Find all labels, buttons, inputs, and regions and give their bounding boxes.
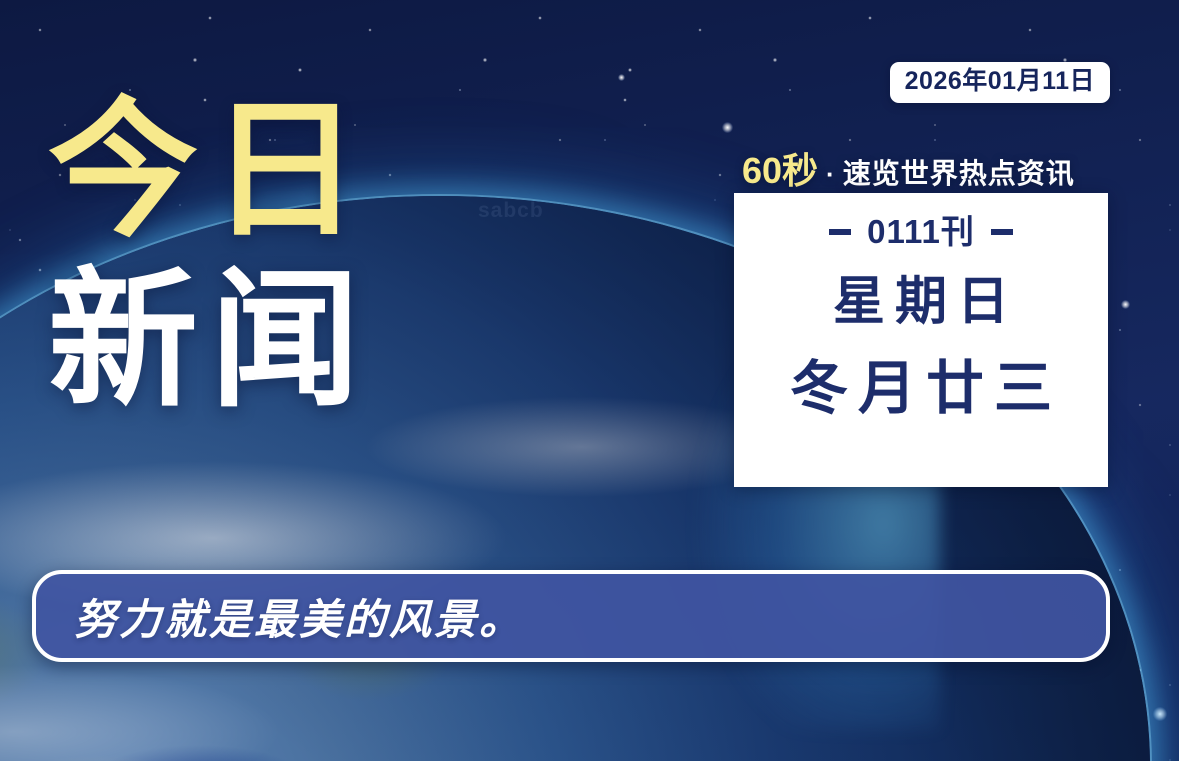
tagline-seconds: 60秒	[742, 142, 818, 194]
tagline-text: 速览世界热点资讯	[843, 152, 1075, 192]
lunar-date-label: 冬月廿三	[780, 360, 1062, 418]
dash-right-icon	[991, 229, 1013, 235]
date-badge: 2026年01月11日	[890, 62, 1110, 103]
issue-row: 0111刊	[829, 215, 1013, 248]
tagline-separator: ·	[824, 159, 837, 190]
info-card: 0111刊 星期日 冬月廿三	[734, 193, 1108, 487]
dash-left-icon	[829, 229, 851, 235]
title-line-news: 新闻	[48, 266, 372, 416]
news-poster: sabcb 2026年01月11日 今日 新闻 60秒 · 速览世界热点资讯 0…	[0, 0, 1179, 761]
tagline: 60秒 · 速览世界热点资讯	[742, 142, 1075, 194]
weekday-label: 星期日	[823, 276, 1019, 328]
title-line-today: 今日	[48, 96, 372, 246]
page-title: 今日 新闻	[48, 96, 372, 416]
quote-banner: 努力就是最美的风景。	[32, 570, 1110, 662]
issue-number: 0111刊	[867, 215, 975, 248]
quote-text: 努力就是最美的风景。	[36, 586, 524, 647]
